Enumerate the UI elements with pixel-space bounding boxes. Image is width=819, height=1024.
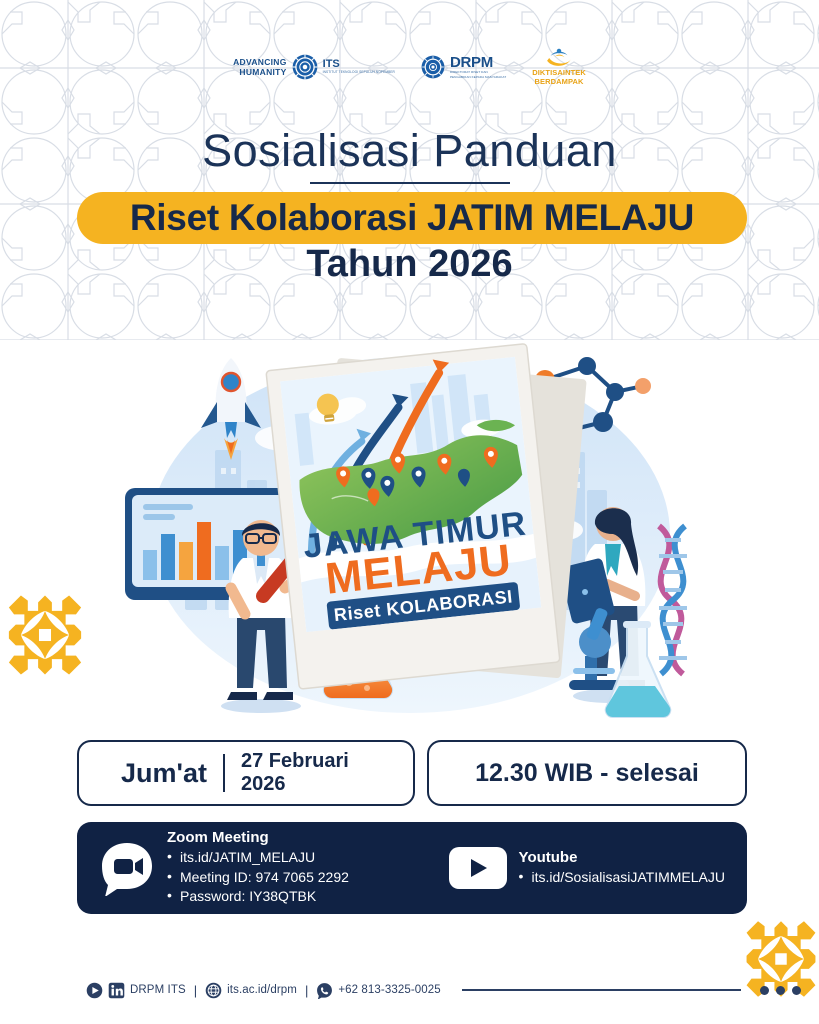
its-logo: ADVANCING HUMANITY ITS INSTITUT TEKNOLOG… (233, 54, 395, 80)
its-emblem-icon (292, 54, 318, 80)
youtube-play-icon[interactable] (86, 982, 103, 999)
headline-year: Tahun 2026 (0, 243, 819, 286)
footer-dot-1 (760, 986, 769, 995)
its-label: ITS (323, 59, 395, 70)
zoom-password: Password: IY38QTBK (167, 887, 349, 907)
globe-icon[interactable] (205, 982, 222, 999)
youtube-icon (449, 847, 507, 889)
its-sublabel: INSTITUT TEKNOLOGI SEPULUH NOPEMBER (323, 70, 395, 74)
footer-phone: +62 813-3325-0025 (338, 984, 440, 996)
advancing-line-2: HUMANITY (233, 67, 287, 78)
zoom-camera-icon (99, 840, 155, 896)
footer-rule (462, 989, 741, 991)
headline-banner: Riset Kolaborasi JATIM MELAJU (77, 192, 747, 244)
hero-illustration: JAWA TIMUR MELAJU Riset KOLABORASI (95, 340, 725, 720)
youtube-detail-list: its.id/SosialisasiJATIMMELAJU (519, 868, 725, 888)
headline-divider (310, 182, 510, 184)
schedule-date: 27 Februari 2026 (241, 750, 371, 796)
schedule-time: 12.30 WIB - selesai (475, 759, 699, 788)
schedule-time-pill: 12.30 WIB - selesai (427, 740, 747, 806)
poster-canvas: ADVANCING HUMANITY ITS INSTITUT TEKNOLOG… (0, 0, 819, 1024)
headline-banner-text: Riset Kolaborasi JATIM MELAJU (130, 197, 694, 239)
footer-social-handle: DRPM ITS (130, 984, 186, 996)
footer-dot-2 (776, 986, 785, 995)
footer-dot-3 (792, 986, 801, 995)
linkedin-icon[interactable] (108, 982, 125, 999)
zoom-meeting-id: Meeting ID: 974 7065 2292 (167, 868, 349, 888)
access-panel: Zoom Meeting its.id/JATIM_MELAJU Meeting… (77, 822, 747, 914)
youtube-link[interactable]: its.id/SosialisasiJATIMMELAJU (519, 868, 725, 888)
logo-row: ADVANCING HUMANITY ITS INSTITUT TEKNOLOG… (0, 48, 819, 86)
schedule-date-pill: Jum'at 27 Februari 2026 (77, 740, 415, 806)
polaroid-card: JAWA TIMUR MELAJU Riset KOLABORASI (266, 344, 560, 690)
play-triangle-icon (466, 856, 490, 880)
ornament-left-icon (2, 592, 88, 678)
youtube-access-block: Youtube its.id/SosialisasiJATIMMELAJU (449, 847, 725, 889)
diktisaintek-line-2: BERDAMPAK (532, 78, 586, 87)
headline-subtitle: Sosialisasi Panduan (0, 125, 819, 177)
whatsapp-icon[interactable] (316, 982, 333, 999)
drpm-emblem-icon (421, 55, 445, 79)
schedule-day: Jum'at (121, 758, 207, 789)
footer-separator-1: | (194, 983, 197, 998)
diktisaintek-emblem-icon (545, 48, 573, 68)
advancing-humanity-text: ADVANCING HUMANITY (233, 57, 287, 78)
drpm-label: DRPM (450, 55, 506, 70)
zoom-detail-list: its.id/JATIM_MELAJU Meeting ID: 974 7065… (167, 848, 349, 908)
zoom-access-block: Zoom Meeting its.id/JATIM_MELAJU Meeting… (99, 829, 449, 908)
youtube-title: Youtube (519, 849, 725, 866)
drpm-sublabel-2: PENGABDIAN KEPADA MASYARAKAT (450, 75, 506, 79)
diktisaintek-logo: DIKTISAINTEK BERDAMPAK (532, 48, 586, 86)
footer-bar: DRPM ITS | its.ac.id/drpm | +62 813-3325… (0, 975, 819, 1005)
footer-separator-2: | (305, 983, 308, 998)
drpm-logo: DRPM DIREKTORAT RISET DAN PENGABDIAN KEP… (421, 55, 506, 79)
zoom-title: Zoom Meeting (167, 829, 349, 846)
footer-dots (760, 986, 801, 995)
advancing-line-1: ADVANCING (233, 57, 287, 68)
schedule-divider (223, 754, 225, 792)
zoom-link[interactable]: its.id/JATIM_MELAJU (167, 848, 349, 868)
footer-website[interactable]: its.ac.id/drpm (227, 984, 297, 996)
